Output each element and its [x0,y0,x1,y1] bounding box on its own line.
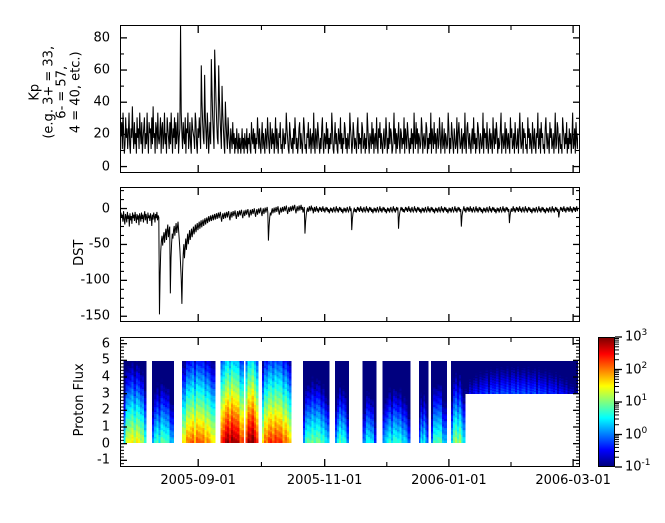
colorbar-tick-base: 10 [625,362,642,377]
colorbar-tick-base: 10 [625,330,642,345]
kp-y-tick: 80 [60,30,110,45]
dst-line-series [121,188,578,320]
x-axis-tick: 2006-01-01 [411,473,487,488]
colorbar-tick: 100 [625,427,647,442]
flux-y-tick: 1 [70,420,110,435]
kp-y-tick: 60 [60,63,110,78]
colorbar-tick-exponent: 3 [642,328,648,338]
flux-y-tick: 4 [70,370,110,385]
x-axis-tick: 2005-11-01 [287,473,363,488]
dst-panel [120,187,580,322]
colorbar-tick-exponent: 0 [642,426,648,436]
x-axis-tick: 2005-09-01 [160,473,236,488]
kp-y-tick: 20 [60,127,110,142]
kp-y-axis-label-line-0: Kp [29,12,43,172]
flux-y-tick: 2 [70,403,110,418]
colorbar [598,337,615,467]
flux-y-tick: -1 [70,453,110,468]
colorbar-tick: 101 [625,395,647,410]
colorbar-tick-exponent: 2 [642,361,648,371]
flux-heatmap [121,338,578,465]
flux-y-tick: 0 [70,436,110,451]
dst-y-tick: -150 [45,309,110,324]
colorbar-tick-exponent: -1 [642,458,651,468]
kp-panel [120,25,580,173]
kp-y-axis-label-line-1: (e.g. 3+ = 33, [42,12,56,172]
flux-y-tick: 6 [70,336,110,351]
x-axis-tick: 2006-03-01 [535,473,611,488]
colorbar-tick-exponent: 1 [642,393,648,403]
kp-line-series [121,26,578,171]
colorbar-tick: 102 [625,362,647,377]
kp-y-tick: 40 [60,95,110,110]
flux-y-tick: 3 [70,386,110,401]
flux-y-tick: 5 [70,353,110,368]
colorbar-tick: 10-1 [625,460,651,475]
colorbar-tick-base: 10 [625,427,642,442]
colorbar-tick: 103 [625,330,647,345]
flux-panel [120,337,580,467]
kp-y-tick: 0 [60,159,110,174]
colorbar-tick-base: 10 [625,460,642,475]
colorbar-tick-base: 10 [625,395,642,410]
dst-y-tick: -100 [45,273,110,288]
dst-y-tick: 0 [45,201,110,216]
figure-canvas: Kp(e.g. 3+ = 33,6- = 57,4 = 40, etc.) 02… [0,0,665,523]
dst-y-tick: -50 [45,237,110,252]
